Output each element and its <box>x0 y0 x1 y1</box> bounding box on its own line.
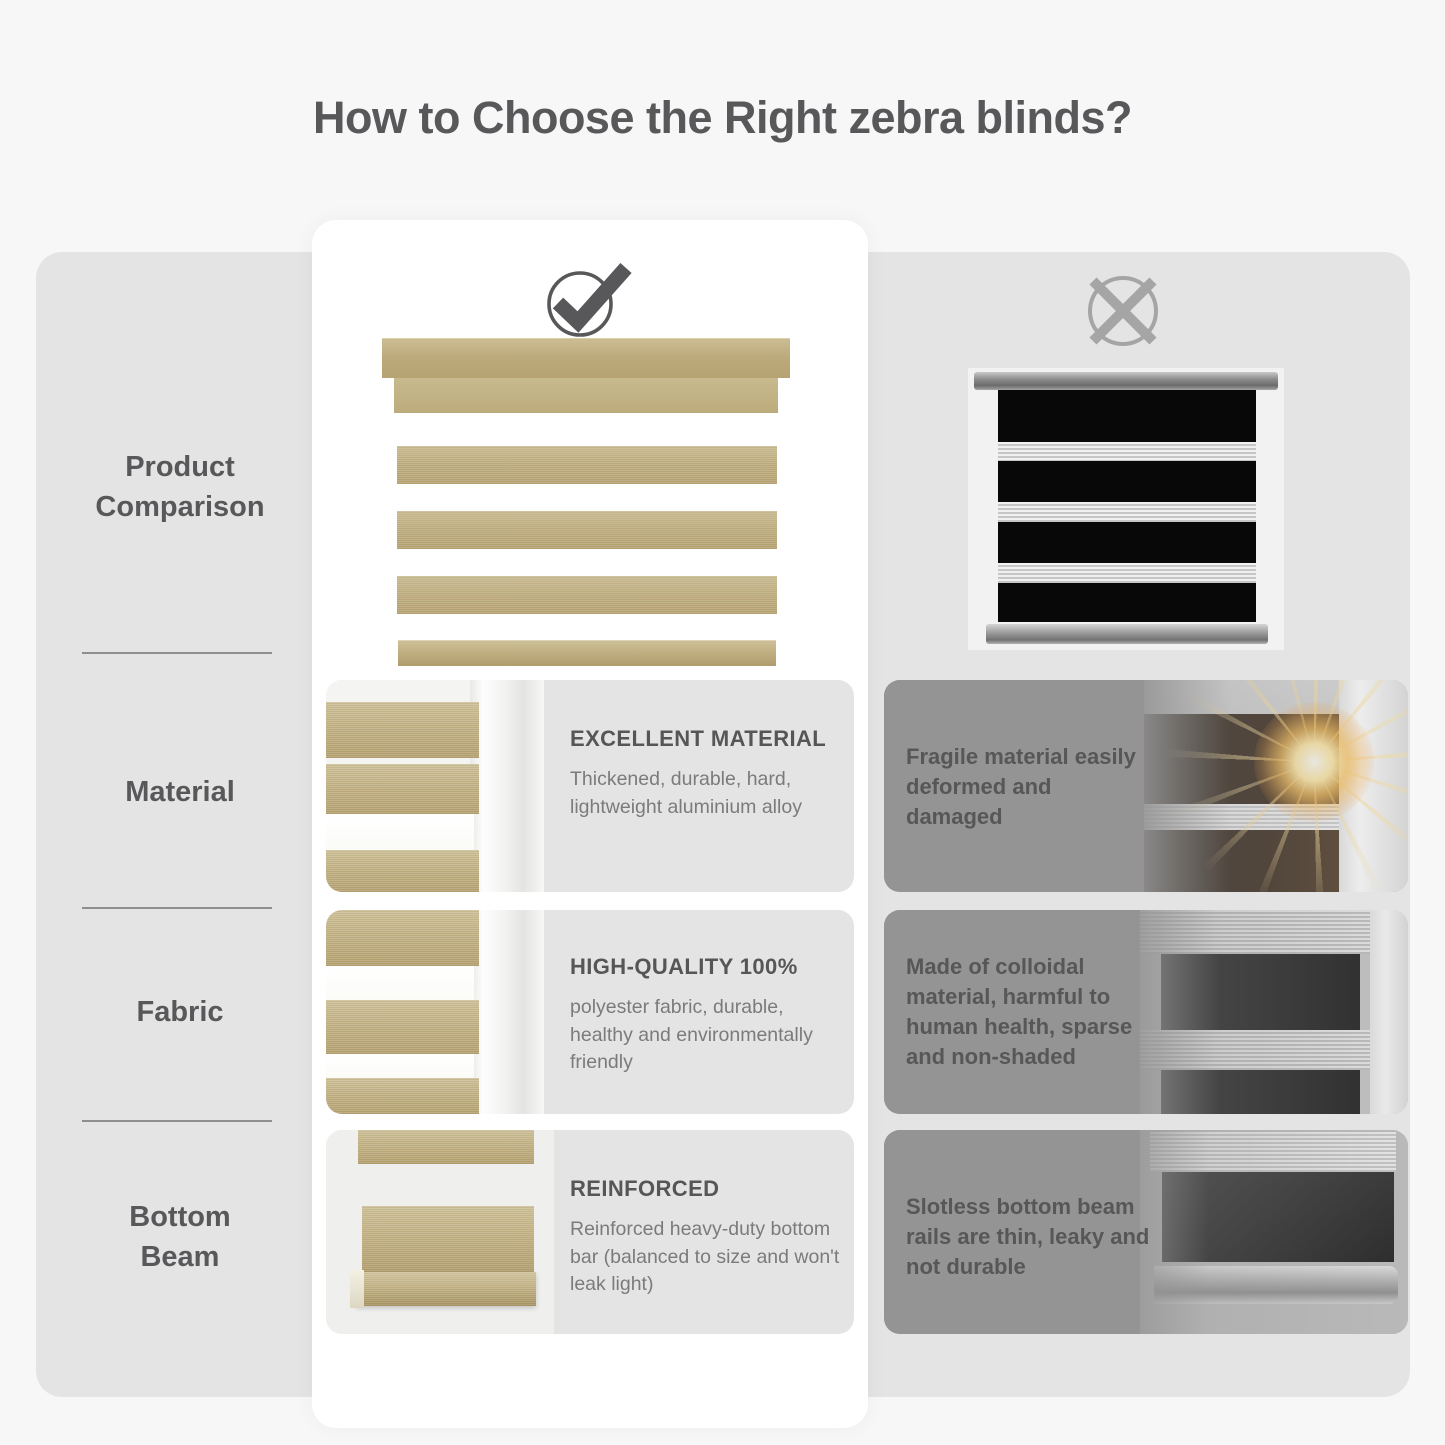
sidebar-item-fabric: Fabric <box>52 977 308 1047</box>
sheer-band <box>998 563 1256 583</box>
cross-circle-icon <box>1080 268 1166 354</box>
black-band <box>998 390 1256 442</box>
black-zebra-blind-product-image <box>968 368 1284 650</box>
tan-blind-closeup-image <box>326 680 544 892</box>
sheer-gap <box>326 1054 474 1078</box>
tan-slat <box>326 850 479 892</box>
tan-headrail <box>382 338 790 378</box>
tan-slat <box>397 446 777 484</box>
tan-zebra-blind-product-image <box>382 338 790 668</box>
material-good-heading: EXCELLENT MATERIAL <box>570 726 838 752</box>
sidebar-item-bottom-beam: Bottom Beam <box>52 1182 308 1292</box>
sidebar-label-bottom-beam: Bottom Beam <box>129 1197 230 1277</box>
sidebar-item-product-comparison: Product Comparison <box>52 432 308 542</box>
window-frame <box>470 680 544 892</box>
bottom-beam-good-card: REINFORCED Reinforced heavy-duty bottom … <box>326 1130 854 1334</box>
material-good-card: EXCELLENT MATERIAL Thickened, durable, h… <box>326 680 854 892</box>
fabric-good-card: HIGH-QUALITY 100% polyester fabric, dura… <box>326 910 854 1114</box>
material-good-text: EXCELLENT MATERIAL Thickened, durable, h… <box>570 726 838 821</box>
black-headrail <box>974 372 1278 390</box>
tan-slat <box>326 1078 479 1114</box>
tan-fabric-closeup-image <box>326 910 544 1114</box>
fabric-good-heading: HIGH-QUALITY 100% <box>570 954 842 980</box>
bottom-beam-good-body: Reinforced heavy-duty bottom bar (balanc… <box>570 1216 846 1299</box>
sidebar-label-fabric: Fabric <box>136 992 223 1032</box>
page-title: How to Choose the Right zebra blinds? <box>0 92 1445 144</box>
fabric-good-body: polyester fabric, durable, healthy and e… <box>570 994 842 1077</box>
tan-slat <box>358 1130 534 1164</box>
tan-slat <box>326 910 479 966</box>
fabric-good-text: HIGH-QUALITY 100% polyester fabric, dura… <box>570 954 842 1077</box>
black-band <box>998 583 1256 622</box>
sheer-gap <box>326 966 474 1000</box>
bottom-beam-good-text: REINFORCED Reinforced heavy-duty bottom … <box>570 1176 846 1299</box>
fabric-bad-text: Made of colloidal material, harmful to h… <box>906 952 1160 1073</box>
tan-slat <box>397 576 777 614</box>
bottom-beam-bad-card: Slotless bottom beam rails are thin, lea… <box>884 1130 1408 1334</box>
bar-end-cap <box>350 1270 364 1308</box>
sidebar-item-material: Material <box>52 757 308 827</box>
bottom-beam-good-heading: REINFORCED <box>570 1176 846 1202</box>
sidebar-divider-3 <box>82 1120 272 1122</box>
material-bad-card: Fragile material easily deformed and dam… <box>884 680 1408 892</box>
sheer-band <box>998 502 1256 522</box>
material-bad-text: Fragile material easily deformed and dam… <box>906 742 1146 832</box>
black-band <box>998 522 1256 563</box>
black-band <box>998 461 1256 502</box>
sheer-band <box>998 442 1256 461</box>
reinforced-bottom-bar <box>356 1272 536 1306</box>
sidebar-label-material: Material <box>125 772 235 812</box>
tan-bottom-bar-image <box>326 1130 554 1334</box>
window-frame <box>470 910 544 1114</box>
tan-headrail-lower <box>394 378 778 413</box>
material-good-body: Thickened, durable, hard, lightweight al… <box>570 766 838 821</box>
sheer-gap <box>326 814 474 850</box>
tan-slat <box>326 764 479 814</box>
sidebar-divider-1 <box>82 652 272 654</box>
tan-slat <box>326 1000 479 1054</box>
infographic-page: How to Choose the Right zebra blinds? Pr… <box>0 0 1445 1445</box>
fabric-bad-card: Made of colloidal material, harmful to h… <box>884 910 1408 1114</box>
sidebar-divider-2 <box>82 907 272 909</box>
tan-bottom-bar <box>398 640 776 666</box>
tan-slat <box>362 1206 534 1272</box>
tan-slat <box>326 702 479 758</box>
black-bottom-rail <box>986 624 1268 644</box>
check-circle-icon <box>538 256 634 342</box>
bottom-beam-bad-text: Slotless bottom beam rails are thin, lea… <box>906 1192 1154 1282</box>
black-blind-body <box>998 390 1256 622</box>
tan-slat <box>397 511 777 549</box>
sidebar: Product Comparison Material Fabric Botto… <box>52 252 308 1397</box>
sidebar-label-product-comparison: Product Comparison <box>95 447 264 527</box>
